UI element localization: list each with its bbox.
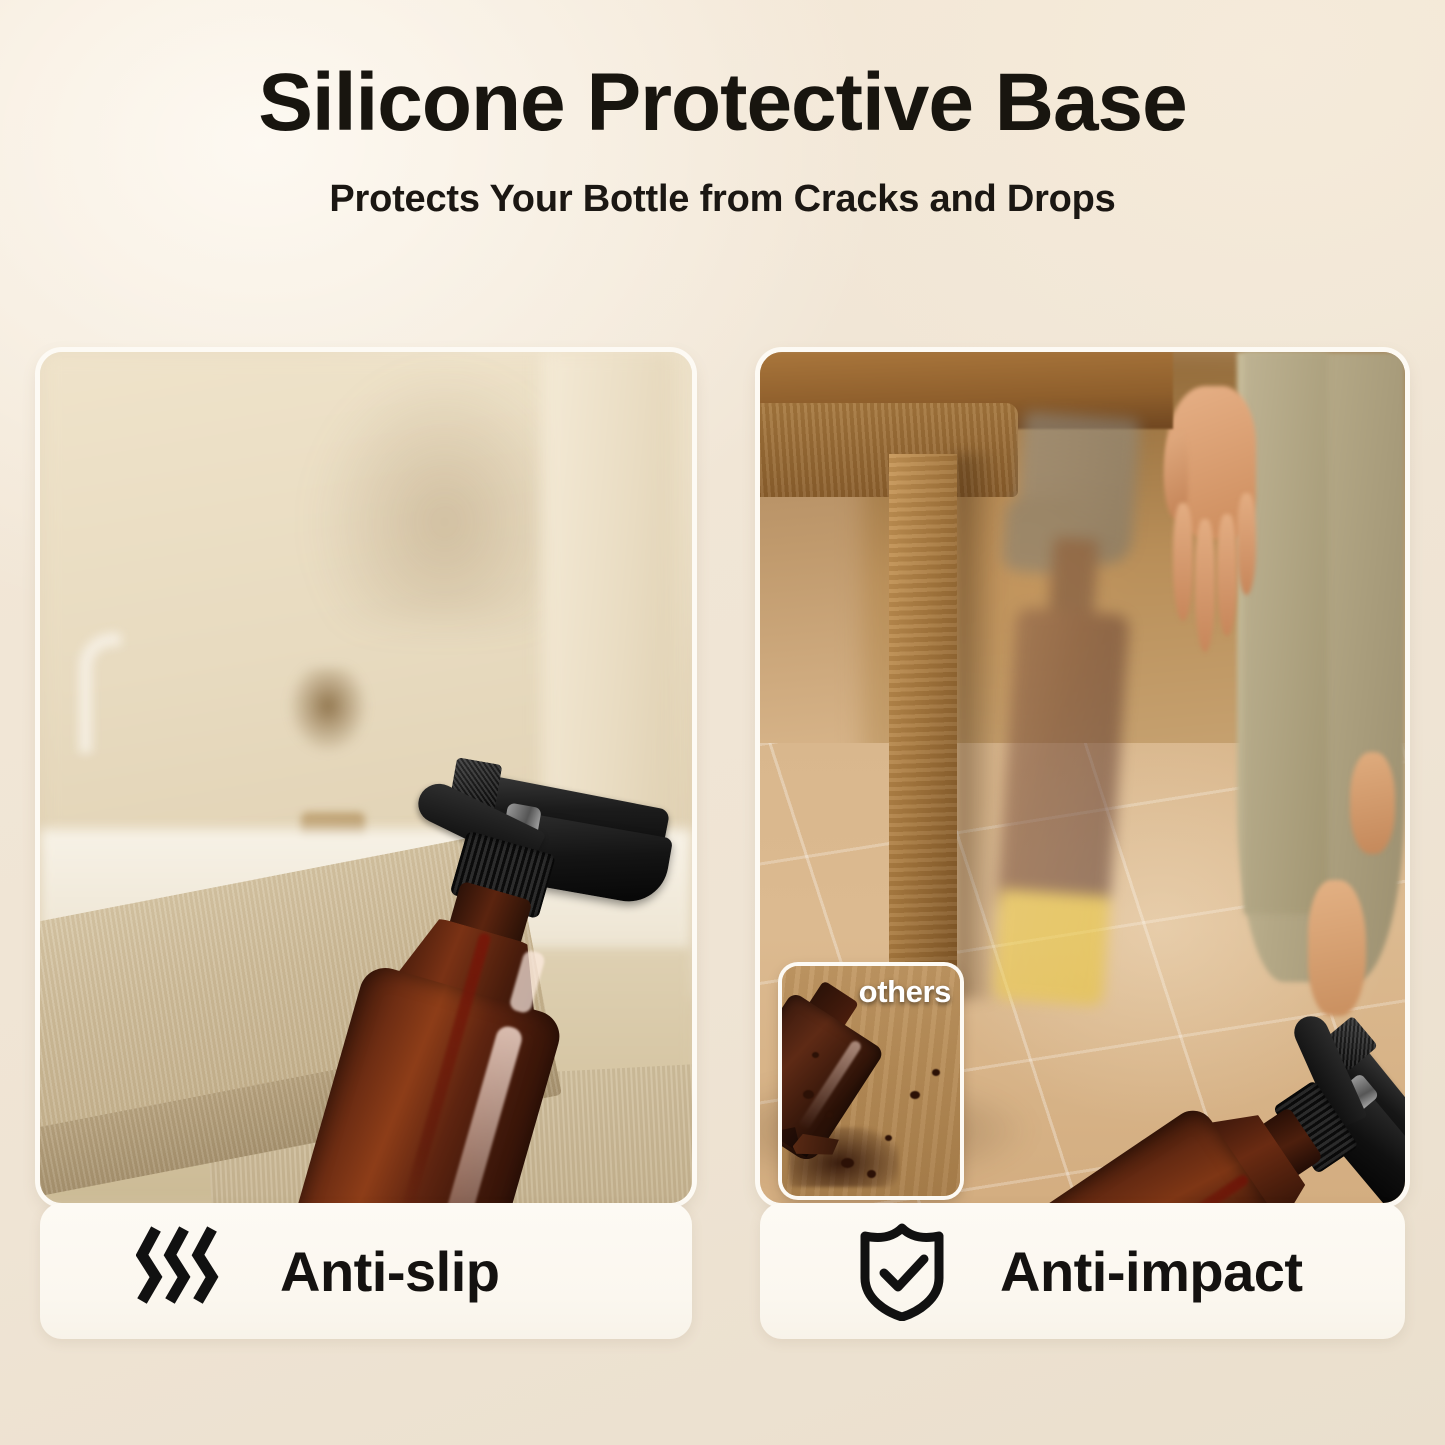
liquid-droplet (932, 1069, 940, 1076)
caption-label: Anti-slip (280, 1239, 499, 1304)
hand-finger (1217, 514, 1237, 637)
page-title: Silicone Protective Base (0, 62, 1445, 144)
reaching-hand (1166, 386, 1276, 641)
hand-finger (1237, 493, 1257, 595)
scene-anti-impact: others (760, 352, 1405, 1203)
ghost-body (996, 608, 1130, 921)
others-comparison-inset: others (782, 966, 960, 1196)
liquid-droplet (885, 1135, 892, 1141)
hand-finger (1173, 503, 1193, 620)
ghost-silicone-base (993, 889, 1110, 1007)
inset-label: others (859, 974, 951, 1010)
wall-shadow (314, 369, 575, 624)
caption-anti-slip: Anti-slip (40, 1203, 692, 1339)
caption-label: Anti-impact (1000, 1239, 1303, 1304)
zigzag-waves-icon (136, 1221, 228, 1321)
liquid-droplet (867, 1170, 876, 1178)
caption-anti-impact: Anti-impact (760, 1203, 1405, 1339)
hand-finger (1195, 519, 1215, 652)
person-foot-back (1350, 752, 1395, 854)
panel-anti-impact: others (760, 352, 1405, 1203)
faucet-icon (79, 633, 121, 753)
shield-check-icon (856, 1221, 948, 1321)
table-leg (889, 454, 957, 1016)
page-subtitle: Protects Your Bottle from Cracks and Dro… (0, 178, 1445, 221)
panel-anti-slip (40, 352, 692, 1203)
scene-anti-slip (40, 352, 692, 1203)
liquid-droplet (825, 1111, 833, 1118)
header: Silicone Protective Base Protects Your B… (0, 62, 1445, 221)
product-infographic: Silicone Protective Base Protects Your B… (0, 0, 1445, 1445)
